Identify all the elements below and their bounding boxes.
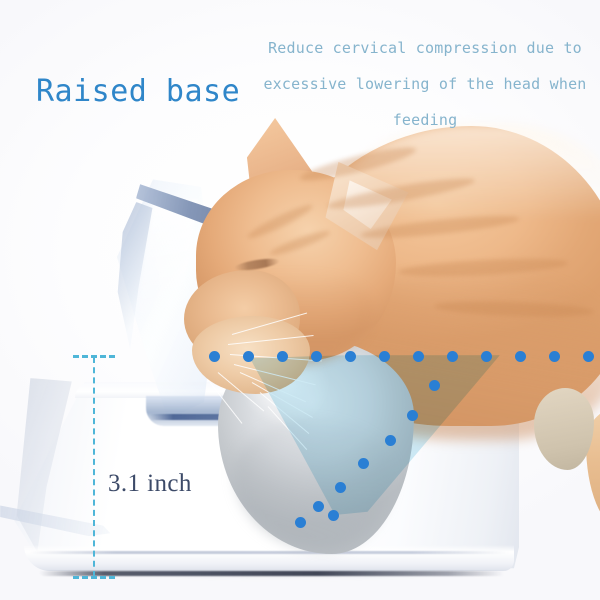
cat-rear-leg [534, 388, 594, 470]
angle-dot-diagonal [429, 380, 440, 391]
angle-dot-horizontal [583, 351, 594, 362]
description-text: Reduce cervical compression due to exces… [250, 30, 600, 138]
angle-dot-horizontal [515, 351, 526, 362]
product-marketing-image: 3.1 inch Raised base Reduce cervical com… [0, 0, 600, 600]
angle-dot-horizontal [277, 351, 288, 362]
angle-dot-horizontal [243, 351, 254, 362]
angle-dot-horizontal [447, 351, 458, 362]
angle-dot-horizontal [209, 351, 220, 362]
angle-dot-diagonal [385, 435, 396, 446]
measurement-tick-top [73, 355, 115, 358]
angle-dot-diagonal [335, 482, 346, 493]
measurement-tick-bottom [73, 576, 115, 579]
page-title: Raised base [36, 74, 240, 109]
angle-dot-diagonal [328, 510, 339, 521]
description-line-2: excessive lowering of the head when [250, 66, 600, 102]
measurement-dashed-line [93, 357, 95, 577]
description-line-3: feeding [250, 102, 600, 138]
angle-dot-horizontal [413, 351, 424, 362]
angle-dot-horizontal [481, 351, 492, 362]
angle-dot-diagonal [295, 517, 306, 528]
description-line-1: Reduce cervical compression due to [250, 30, 600, 66]
angle-dot-horizontal [311, 351, 322, 362]
angle-dot-diagonal [313, 501, 324, 512]
angle-dot-diagonal [407, 410, 418, 421]
angle-dot-horizontal [549, 351, 560, 362]
angle-dot-horizontal [345, 351, 356, 362]
measurement-label: 3.1 inch [108, 470, 192, 498]
angle-dot-horizontal [379, 351, 390, 362]
angle-dot-diagonal [358, 458, 369, 469]
base-rim-line [29, 551, 509, 554]
